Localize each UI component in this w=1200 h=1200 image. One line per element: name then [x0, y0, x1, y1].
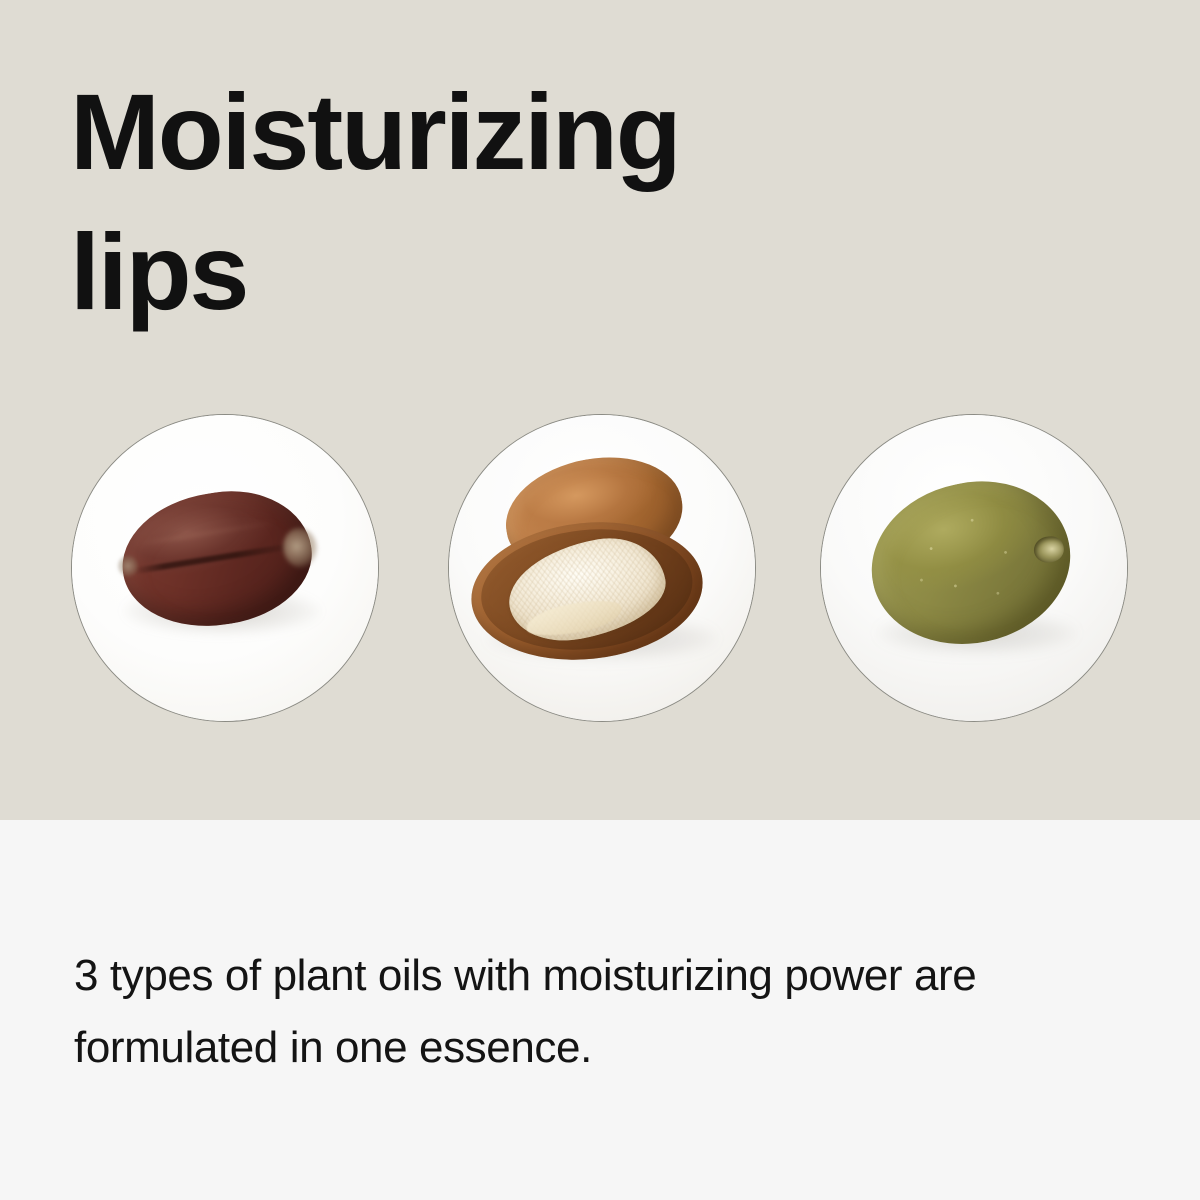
ingredient-circle-row [0, 414, 1200, 724]
description-section: 3 types of plant oils with moisturizing … [0, 820, 1200, 1200]
description-text: 3 types of plant oils with moisturizing … [74, 940, 1104, 1084]
ingredient-circle-argan-nut [448, 414, 756, 722]
argan-photo [449, 415, 755, 721]
jojoba-center-seam [134, 542, 300, 574]
jojoba-tip [280, 525, 320, 570]
ingredient-circle-jojoba-seed [71, 414, 379, 722]
ingredient-circle-green-olive [820, 414, 1128, 722]
product-feature-page: Moisturizing lips [0, 0, 1200, 1200]
jojoba-highlight-ridge [137, 520, 276, 546]
olive-photo [821, 415, 1127, 721]
jojoba-photo [72, 415, 378, 721]
hero-section: Moisturizing lips [0, 0, 1200, 820]
jojoba-stem-scar [117, 553, 140, 578]
page-title: Moisturizing lips [70, 62, 970, 343]
